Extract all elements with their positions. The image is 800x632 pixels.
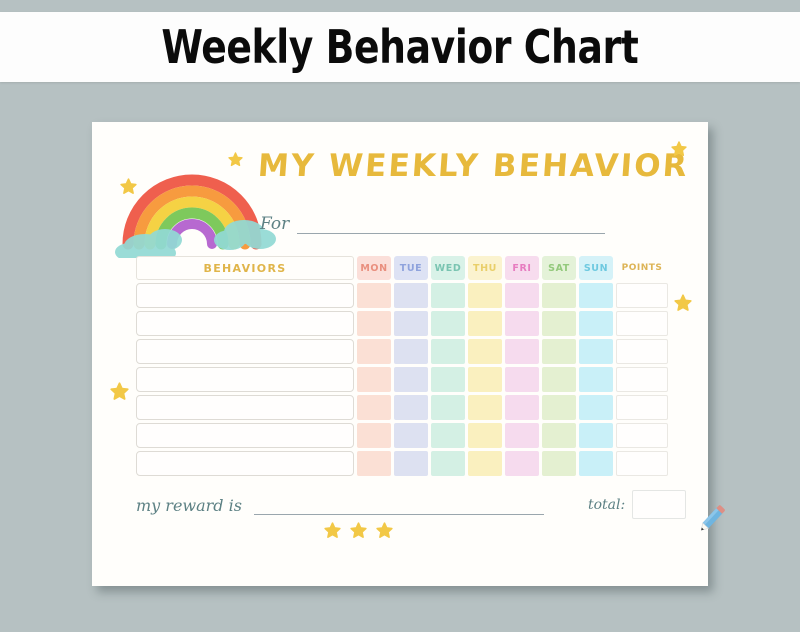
mark-cell-tue[interactable] [394, 283, 428, 308]
mark-cell-sun[interactable] [579, 311, 613, 336]
mark-cell-sat[interactable] [542, 423, 576, 448]
card-footer: my reward is total: [136, 490, 676, 550]
grid-body [136, 283, 666, 476]
mark-cell-sun[interactable] [579, 339, 613, 364]
grid-row [136, 311, 666, 336]
reward-star-icon [350, 522, 367, 543]
mark-cell-sun[interactable] [579, 423, 613, 448]
mark-cell-sun[interactable] [579, 451, 613, 476]
for-input-blank[interactable] [297, 219, 605, 234]
mark-cell-wed[interactable] [431, 423, 465, 448]
points-input-cell[interactable] [616, 339, 668, 364]
header-cell-behaviors: BEHAVIORS [136, 256, 354, 280]
mark-cell-thu[interactable] [468, 311, 502, 336]
mark-cell-mon[interactable] [357, 283, 391, 308]
header-label-thu: THU [473, 263, 497, 274]
behavior-grid: BEHAVIORS MON TUE WED THU FRI SAT SUN PO… [136, 256, 666, 479]
mark-cell-thu[interactable] [468, 367, 502, 392]
grid-row [136, 283, 666, 308]
behavior-chart-card: MY WEEKLY BEHAVIOR For BEHAVIORS MON TUE… [92, 122, 708, 586]
points-input-cell[interactable] [616, 283, 668, 308]
grid-row [136, 339, 666, 364]
mark-cell-thu[interactable] [468, 451, 502, 476]
mark-cell-sat[interactable] [542, 311, 576, 336]
header-label-tue: TUE [400, 263, 422, 274]
header-label-points: POINTS [622, 263, 663, 273]
mark-cell-fri[interactable] [505, 423, 539, 448]
reward-star-icon [376, 522, 393, 543]
for-line: For [260, 214, 605, 234]
header-cell-sun: SUN [579, 256, 613, 280]
header-cell-thu: THU [468, 256, 502, 280]
header-cell-points: POINTS [616, 256, 668, 280]
grid-row [136, 451, 666, 476]
behavior-input-cell[interactable] [136, 451, 354, 476]
header-label-mon: MON [360, 263, 387, 274]
mark-cell-wed[interactable] [431, 395, 465, 420]
mark-cell-tue[interactable] [394, 395, 428, 420]
mark-cell-thu[interactable] [468, 395, 502, 420]
mark-cell-sat[interactable] [542, 339, 576, 364]
mark-cell-mon[interactable] [357, 339, 391, 364]
header-label-sat: SAT [548, 263, 570, 274]
star-card-right-icon [674, 294, 692, 316]
mark-cell-tue[interactable] [394, 367, 428, 392]
points-input-cell[interactable] [616, 395, 668, 420]
grid-row [136, 395, 666, 420]
star-outside-left-icon [110, 382, 129, 405]
mark-cell-fri[interactable] [505, 283, 539, 308]
behavior-input-cell[interactable] [136, 283, 354, 308]
behavior-input-cell[interactable] [136, 423, 354, 448]
grid-row [136, 367, 666, 392]
mark-cell-sat[interactable] [542, 395, 576, 420]
points-input-cell[interactable] [616, 311, 668, 336]
points-input-cell[interactable] [616, 451, 668, 476]
mark-cell-mon[interactable] [357, 367, 391, 392]
behavior-input-cell[interactable] [136, 311, 354, 336]
mark-cell-sun[interactable] [579, 367, 613, 392]
header-cell-fri: FRI [505, 256, 539, 280]
mark-cell-sun[interactable] [579, 395, 613, 420]
mark-cell-wed[interactable] [431, 283, 465, 308]
mark-cell-wed[interactable] [431, 367, 465, 392]
header-cell-sat: SAT [542, 256, 576, 280]
mark-cell-tue[interactable] [394, 339, 428, 364]
mark-cell-mon[interactable] [357, 311, 391, 336]
mark-cell-sat[interactable] [542, 283, 576, 308]
header-label-fri: FRI [512, 263, 531, 274]
mark-cell-wed[interactable] [431, 339, 465, 364]
mark-cell-tue[interactable] [394, 423, 428, 448]
mark-cell-sat[interactable] [542, 367, 576, 392]
reward-star-group [324, 522, 393, 543]
mark-cell-wed[interactable] [431, 451, 465, 476]
card-heading: MY WEEKLY BEHAVIOR [257, 148, 690, 184]
reward-input-blank[interactable] [254, 514, 544, 515]
mark-cell-sat[interactable] [542, 451, 576, 476]
grid-row [136, 423, 666, 448]
mark-cell-wed[interactable] [431, 311, 465, 336]
mark-cell-fri[interactable] [505, 311, 539, 336]
behavior-input-cell[interactable] [136, 395, 354, 420]
mark-cell-thu[interactable] [468, 339, 502, 364]
mark-cell-fri[interactable] [505, 395, 539, 420]
mark-cell-sun[interactable] [579, 283, 613, 308]
star-rainbow-top-icon [228, 152, 243, 171]
grid-header-row: BEHAVIORS MON TUE WED THU FRI SAT SUN PO… [136, 256, 666, 280]
mark-cell-tue[interactable] [394, 451, 428, 476]
star-rainbow-left-icon [120, 178, 137, 199]
pencil-icon [692, 498, 732, 538]
header-cell-wed: WED [431, 256, 465, 280]
mark-cell-thu[interactable] [468, 423, 502, 448]
header-cell-tue: TUE [394, 256, 428, 280]
star-heading-right-icon [671, 141, 687, 161]
mark-cell-fri[interactable] [505, 339, 539, 364]
header-label-wed: WED [435, 263, 462, 274]
mark-cell-fri[interactable] [505, 367, 539, 392]
page-title: Weekly Behavior Chart [162, 20, 639, 74]
reward-star-icon [324, 522, 341, 543]
for-label: For [260, 214, 289, 234]
mark-cell-mon[interactable] [357, 423, 391, 448]
points-input-cell[interactable] [616, 367, 668, 392]
behavior-input-cell[interactable] [136, 367, 354, 392]
total-input-box[interactable] [632, 490, 686, 519]
mark-cell-mon[interactable] [357, 395, 391, 420]
behavior-input-cell[interactable] [136, 339, 354, 364]
total-label: total: [588, 497, 625, 513]
mark-cell-thu[interactable] [468, 283, 502, 308]
mark-cell-tue[interactable] [394, 311, 428, 336]
title-banner: Weekly Behavior Chart [0, 12, 800, 82]
header-cell-mon: MON [357, 256, 391, 280]
reward-label: my reward is [136, 496, 242, 515]
mark-cell-mon[interactable] [357, 451, 391, 476]
points-input-cell[interactable] [616, 423, 668, 448]
header-label-sun: SUN [584, 263, 608, 274]
mark-cell-fri[interactable] [505, 451, 539, 476]
rainbow-icon [110, 140, 280, 258]
header-label-behaviors: BEHAVIORS [204, 262, 287, 275]
